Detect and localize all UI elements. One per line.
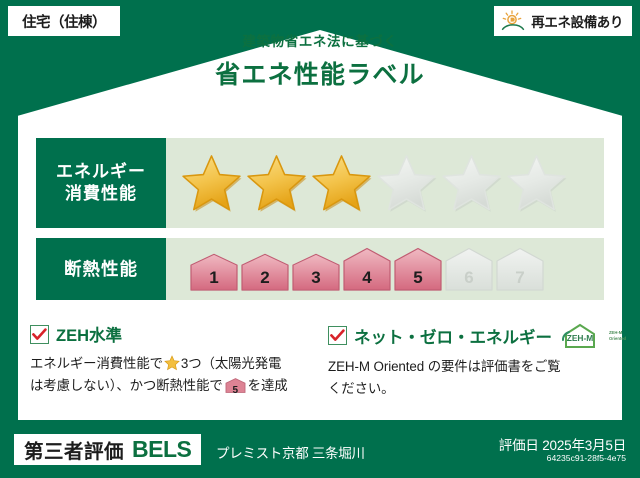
zeh-body-part2: は考慮しない）、かつ断熱性能で: [30, 378, 223, 393]
zeh-m-logo-subtext: ZEH-M Oriented: [609, 330, 626, 341]
insulation-level-7: 7: [496, 247, 544, 291]
energy-performance-label: エネルギー 消費性能: [36, 138, 166, 228]
check-icon: [30, 325, 49, 344]
insulation-level-4: 4: [343, 247, 391, 291]
page-title: 省エネ性能ラベル: [0, 55, 640, 91]
inline-star-icon: [163, 356, 181, 371]
bels-badge-label: 第三者評価: [24, 435, 124, 464]
inline-house-value: 5: [232, 385, 237, 396]
footer: 第三者評価 BELS プレミスト京都 三条堀川 評価日 2025年3月5日 64…: [0, 420, 640, 478]
insulation-level-6: 6: [445, 247, 493, 291]
star-empty-icon: [505, 153, 570, 213]
insulation-performance-label: 断熱性能: [36, 238, 166, 300]
net-zero-energy-body: ZEH-M Oriented の要件は評価書をご覧 ください。: [328, 356, 624, 399]
star-filled-icon: [245, 153, 310, 213]
insulation-level-1: 1: [190, 253, 238, 291]
star-rating-meter: [166, 138, 604, 228]
page-title-block: 建築物省エネ法に基づく 省エネ性能ラベル: [0, 30, 640, 91]
page-subtitle: 建築物省エネ法に基づく: [0, 30, 640, 50]
insulation-level-5: 5: [394, 247, 442, 291]
zeh-body-part1: エネルギー消費性能で: [30, 356, 163, 371]
check-icon: [328, 326, 347, 345]
inline-house-icon: 5: [225, 378, 246, 393]
zeh-standard-title: ZEH水準: [56, 322, 122, 346]
zeh-body-star-count: 3つ（太陽光発電: [181, 356, 281, 371]
bels-badge-mark: BELS: [132, 436, 191, 463]
star-filled-icon: [180, 153, 245, 213]
energy-performance-row: エネルギー 消費性能: [36, 138, 604, 228]
insulation-level-3: 3: [292, 253, 340, 291]
zeh-standard-body: エネルギー消費性能で3つ（太陽光発電 は考慮しない）、かつ断熱性能で5を達成: [30, 353, 322, 396]
zeh-m-logo-icon: ZEH-M: [559, 322, 601, 349]
star-empty-icon: [440, 153, 505, 213]
zeh-standard-heading: ZEH水準: [30, 322, 322, 346]
star-filled-icon: [310, 153, 375, 213]
evaluation-id: 64235c91-28f5-4e75: [547, 453, 626, 463]
net-zero-energy-heading: ネット・ゼロ・エネルギー ZEH-M ZEH-M Oriented: [328, 322, 624, 349]
energy-performance-label: 住宅（住棟） 再エネ設備あり 建築物省エネ法に基づく 省エネ性能ラベル: [0, 0, 640, 478]
bels-badge: 第三者評価 BELS: [14, 434, 201, 465]
net-zero-energy-block: ネット・ゼロ・エネルギー ZEH-M ZEH-M Oriented ZEH-M …: [328, 322, 624, 399]
net-zero-energy-body-line2: ください。: [328, 378, 624, 400]
net-zero-energy-body-line1: ZEH-M Oriented の要件は評価書をご覧: [328, 356, 624, 378]
zeh-standard-block: ZEH水準 エネルギー消費性能で3つ（太陽光発電 は考慮しない）、かつ断熱性能で…: [30, 322, 322, 396]
net-zero-energy-title: ネット・ゼロ・エネルギー: [354, 324, 552, 348]
energy-performance-label-line2: 消費性能: [65, 183, 137, 205]
insulation-level-2: 2: [241, 253, 289, 291]
star-empty-icon: [375, 153, 440, 213]
insulation-performance-row: 断熱性能 1234567: [36, 238, 604, 300]
insulation-performance-label-text: 断熱性能: [64, 258, 138, 280]
insulation-rating-meter: 1234567: [166, 238, 604, 300]
svg-text:ZEH-M: ZEH-M: [567, 333, 594, 343]
zeh-body-part3: を達成: [248, 378, 288, 393]
renewable-energy-tag-label: 再エネ設備あり: [531, 11, 623, 31]
house-type-tag-label: 住宅（住棟）: [22, 11, 106, 32]
evaluation-date: 評価日 2025年3月5日: [499, 434, 626, 454]
sun-renewable-icon: [500, 10, 526, 32]
energy-performance-label-line1: エネルギー: [56, 161, 146, 183]
building-name: プレミスト京都 三条堀川: [216, 442, 365, 462]
